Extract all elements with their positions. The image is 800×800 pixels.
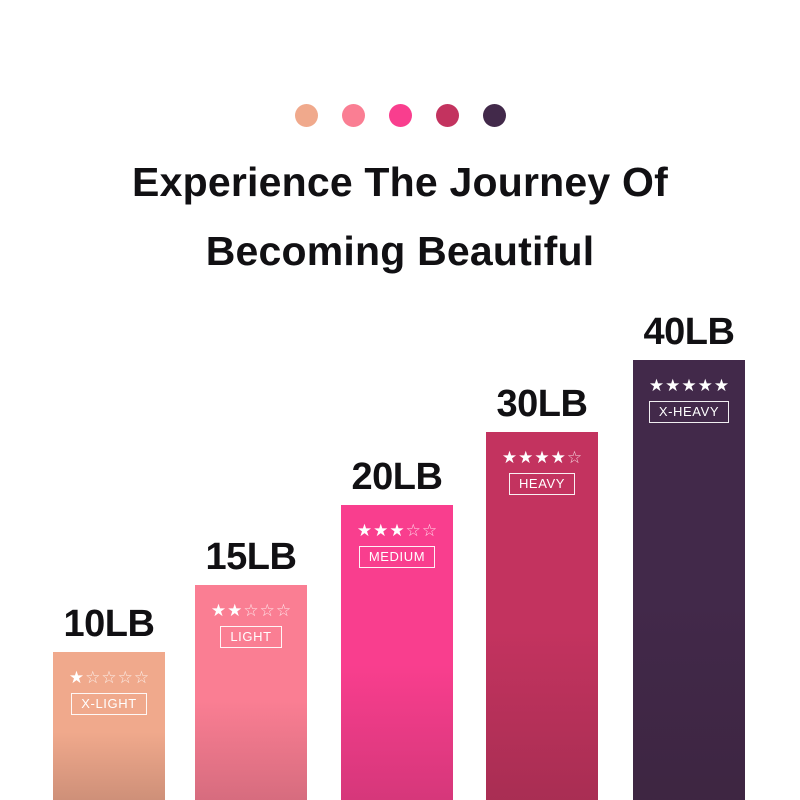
bar-weight-label: 30LB [497,385,588,423]
star-filled-icon: ★ [681,377,696,394]
bar-weight-label: 15LB [206,538,297,576]
resistance-level-badge: LIGHT [220,626,281,648]
star-filled-icon: ★ [698,377,713,394]
star-empty-icon: ☆ [406,522,421,539]
bar-group-light[interactable]: 15LB★★☆☆☆LIGHT [181,538,321,800]
star-rating: ★★★★★ [649,377,729,394]
star-filled-icon: ★ [69,669,84,686]
bar-column[interactable]: ★★★★★X-HEAVY [633,360,745,800]
headline-line-2: Becoming Beautiful [0,217,800,286]
bar-content: ★★★☆☆MEDIUM [341,505,453,568]
star-empty-icon: ☆ [118,669,133,686]
bar-column[interactable]: ★★☆☆☆LIGHT [195,585,307,800]
star-empty-icon: ☆ [101,669,116,686]
star-rating: ★☆☆☆☆ [69,669,149,686]
bar-weight-label: 40LB [644,313,735,351]
dot-light-icon [342,104,365,127]
resistance-level-badge: MEDIUM [359,546,435,568]
star-empty-icon: ☆ [85,669,100,686]
bar-group-x-heavy[interactable]: 40LB★★★★★X-HEAVY [619,313,759,800]
star-filled-icon: ★ [665,377,680,394]
page-title: Experience The Journey Of Becoming Beaut… [0,148,800,286]
dot-medium-icon [389,104,412,127]
dot-x-light-icon [295,104,318,127]
star-empty-icon: ☆ [422,522,437,539]
dot-x-heavy-icon [483,104,506,127]
star-filled-icon: ★ [714,377,729,394]
bar-weight-label: 20LB [352,458,443,496]
star-filled-icon: ★ [227,602,242,619]
star-empty-icon: ☆ [276,602,291,619]
dot-heavy-icon [436,104,459,127]
star-filled-icon: ★ [534,449,549,466]
star-filled-icon: ★ [649,377,664,394]
bar-column[interactable]: ★★★★☆HEAVY [486,432,598,800]
star-filled-icon: ★ [373,522,388,539]
star-rating: ★★★★☆ [502,449,582,466]
bar-group-x-light[interactable]: 10LB★☆☆☆☆X-LIGHT [39,605,179,800]
star-filled-icon: ★ [389,522,404,539]
bar-content: ★☆☆☆☆X-LIGHT [53,652,165,715]
resistance-level-badge: X-LIGHT [71,693,146,715]
resistance-bar-chart: 10LB★☆☆☆☆X-LIGHT15LB★★☆☆☆LIGHT20LB★★★☆☆M… [0,280,800,800]
star-empty-icon: ☆ [260,602,275,619]
bar-content: ★★★★☆HEAVY [486,432,598,495]
bar-group-heavy[interactable]: 30LB★★★★☆HEAVY [472,385,612,800]
bar-column[interactable]: ★☆☆☆☆X-LIGHT [53,652,165,800]
resistance-level-badge: HEAVY [509,473,575,495]
bar-content: ★★☆☆☆LIGHT [195,585,307,648]
star-empty-icon: ☆ [134,669,149,686]
star-filled-icon: ★ [518,449,533,466]
bar-content: ★★★★★X-HEAVY [633,360,745,423]
color-swatch-row [0,104,800,127]
star-filled-icon: ★ [551,449,566,466]
star-empty-icon: ☆ [243,602,258,619]
headline-line-1: Experience The Journey Of [0,148,800,217]
star-empty-icon: ☆ [567,449,582,466]
star-rating: ★★★☆☆ [357,522,437,539]
bar-column[interactable]: ★★★☆☆MEDIUM [341,505,453,800]
bar-group-medium[interactable]: 20LB★★★☆☆MEDIUM [327,458,467,800]
resistance-level-badge: X-HEAVY [649,401,729,423]
promo-banner: Experience The Journey Of Becoming Beaut… [0,0,800,800]
star-filled-icon: ★ [357,522,372,539]
bar-weight-label: 10LB [64,605,155,643]
star-filled-icon: ★ [502,449,517,466]
star-rating: ★★☆☆☆ [211,602,291,619]
star-filled-icon: ★ [211,602,226,619]
